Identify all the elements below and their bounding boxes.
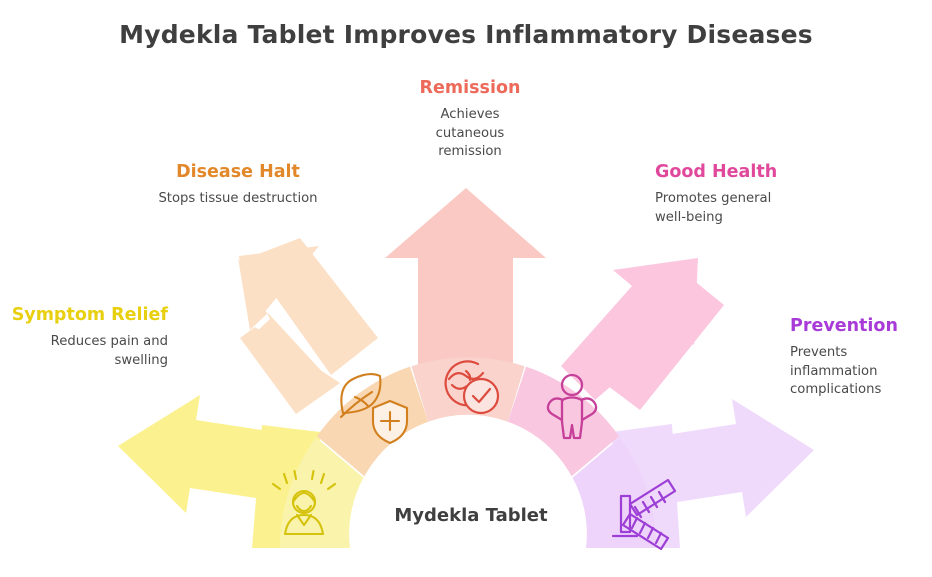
arrow-remission [385,188,546,370]
hub-label: Mydekla Tablet [336,505,606,526]
callout-title-disease-halt: Disease Halt [142,162,334,183]
callout-description-symptom-relief: Reduces pain and swelling [8,333,168,369]
callout-description-remission: Achieves cutaneous remission [374,106,566,161]
callout-title-prevention: Prevention [790,316,932,337]
callout-title-remission: Remission [374,78,566,99]
callout-description-prevention: Prevents inflammation complications [790,344,894,399]
callout-good-health: Good Health Promotes general well-being [655,162,855,227]
callout-title-symptom-relief: Symptom Relief [8,305,168,326]
callout-symptom-relief: Symptom Relief Reduces pain and swelling [8,305,168,370]
callout-description-disease-halt: Stops tissue destruction [142,190,334,208]
radial-arrow-diagram: Symptom Relief Reduces pain and swelling… [0,0,932,577]
callout-description-good-health: Promotes general well-being [655,190,795,226]
callout-title-good-health: Good Health [655,162,855,183]
callout-disease-halt: Disease Halt Stops tissue destruction [142,162,334,209]
callout-remission: Remission Achieves cutaneous remission [374,78,566,161]
arrow-disease-halt [238,238,378,414]
arrow-good-health [561,258,724,410]
callout-prevention: Prevention Prevents inflammation complic… [790,316,932,399]
